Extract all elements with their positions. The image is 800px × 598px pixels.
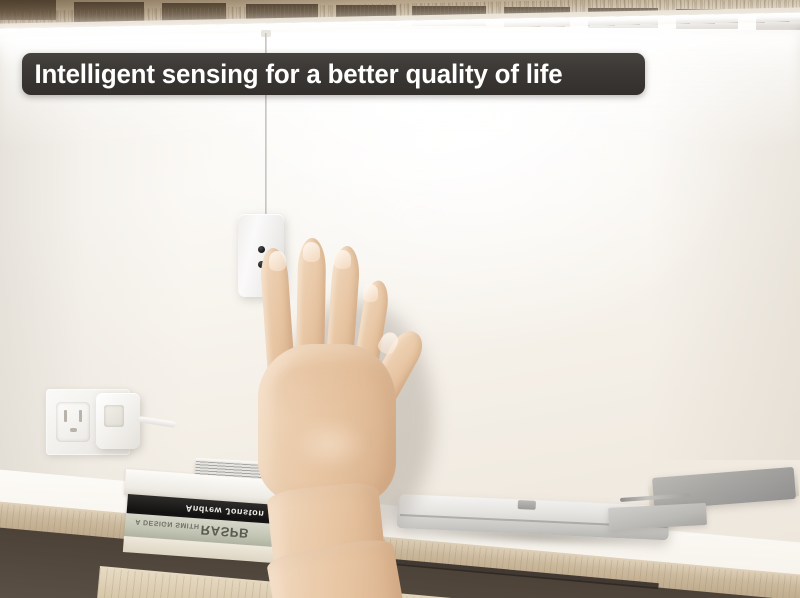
outlet-ground-slot bbox=[70, 428, 77, 432]
product-lifestyle-image: Andrew Jonston RASPB A DESIGN SMITH bbox=[0, 0, 800, 598]
outlet-slot-right bbox=[79, 410, 82, 422]
fingernail bbox=[334, 250, 351, 269]
fingernail bbox=[303, 242, 320, 262]
hand-knuckle-shading bbox=[272, 362, 388, 418]
outlet-slot-left bbox=[64, 410, 67, 422]
headline-text: Intelligent sensing for a better quality… bbox=[22, 59, 562, 90]
fingernail bbox=[269, 251, 286, 271]
fingernail bbox=[363, 284, 378, 302]
laptop-logo-icon bbox=[518, 500, 536, 510]
hand-highlight bbox=[280, 416, 380, 486]
human-hand bbox=[228, 236, 478, 598]
adapter-face bbox=[104, 405, 124, 427]
headline-banner: Intelligent sensing for a better quality… bbox=[22, 53, 645, 95]
outlet-socket bbox=[56, 402, 90, 442]
